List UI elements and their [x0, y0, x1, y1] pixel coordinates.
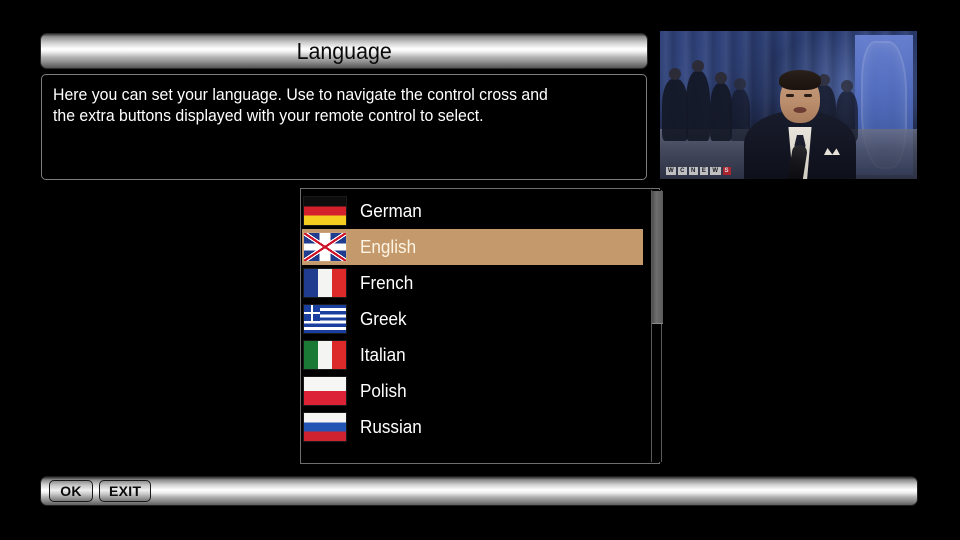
language-list: German English French Greek Italian Poli [302, 193, 643, 445]
flag-fr-icon [304, 269, 346, 297]
channel-logo-part: W [666, 167, 676, 175]
flag-ru-icon [304, 413, 346, 441]
title-bar: Language [40, 33, 648, 69]
bottom-action-bar: OK EXIT [40, 476, 918, 506]
flag-de-icon [304, 197, 346, 225]
video-crowd-figure [710, 83, 732, 141]
list-item-italian[interactable]: Italian [302, 337, 643, 373]
video-reporter [744, 79, 856, 179]
list-item-french[interactable]: French [302, 265, 643, 301]
list-item-english[interactable]: English [302, 229, 643, 265]
video-crowd-figure [662, 79, 688, 141]
flag-pl-icon [304, 377, 346, 405]
tv-settings-screen: Language Here you can set your language.… [0, 0, 960, 540]
list-item-label: English [360, 237, 416, 258]
list-item-label: Polish [360, 381, 407, 402]
channel-logo: W C N E W S [666, 167, 731, 175]
exit-button[interactable]: EXIT [99, 480, 151, 502]
description-text: Here you can set your language. Use to n… [53, 85, 611, 127]
scrollbar-thumb[interactable] [652, 191, 663, 324]
list-item-label: French [360, 273, 413, 294]
list-item-german[interactable]: German [302, 193, 643, 229]
list-item-label: Greek [360, 309, 407, 330]
reporter-mouth [794, 107, 807, 113]
channel-logo-part: W [710, 167, 720, 175]
list-item-label: German [360, 201, 422, 222]
channel-logo-part: N [689, 167, 698, 175]
reporter-eye [804, 94, 812, 97]
list-scrollbar[interactable] [651, 190, 662, 462]
list-item-label: Russian [360, 417, 422, 438]
language-list-panel: German English French Greek Italian Poli [300, 188, 660, 464]
reporter-hair [779, 70, 821, 90]
channel-logo-part: C [678, 167, 687, 175]
list-item-polish[interactable]: Polish [302, 373, 643, 409]
video-crowd-figure [686, 71, 710, 141]
channel-logo-part: E [700, 167, 709, 175]
video-preview[interactable]: W C N E W S [660, 31, 917, 179]
flag-it-icon [304, 341, 346, 369]
reporter-eye [786, 94, 794, 97]
ok-button[interactable]: OK [49, 480, 93, 502]
description-box: Here you can set your language. Use to n… [41, 74, 647, 180]
list-item-russian[interactable]: Russian [302, 409, 643, 445]
list-item-greek[interactable]: Greek [302, 301, 643, 337]
channel-logo-part: S [723, 167, 732, 175]
list-item-label: Italian [360, 345, 406, 366]
flag-gb-icon [304, 233, 346, 261]
flag-gr-icon [304, 305, 346, 333]
page-title: Language [296, 38, 391, 65]
